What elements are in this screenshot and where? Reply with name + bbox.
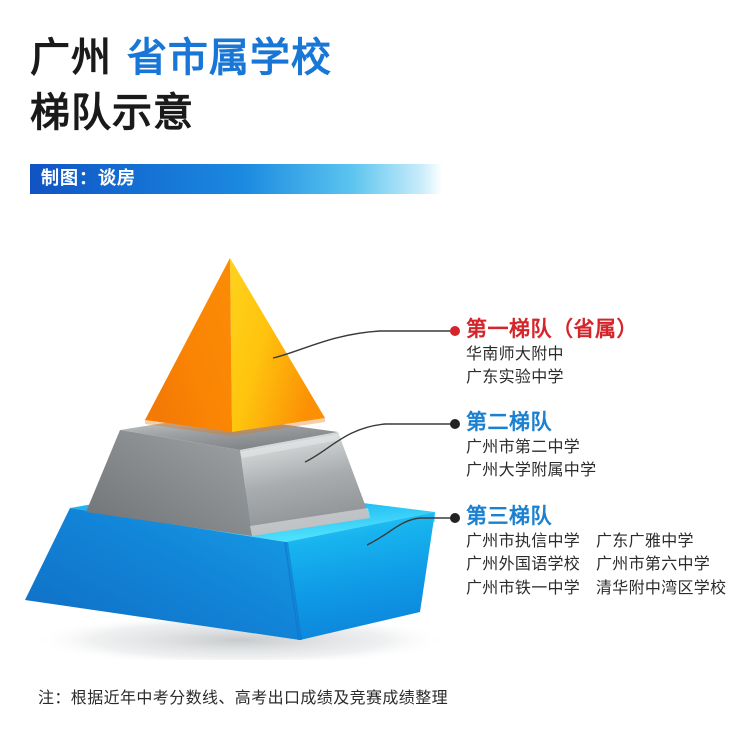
tier-3-heading: 第三梯队 [466,503,726,529]
footnote: 注：根据近年中考分数线、高考出口成绩及竞赛成绩整理 [38,684,448,708]
tier-3-school-row-1: 广州市执信中学 广东广雅中学 [466,529,726,552]
credit-label: 制图：谈房 [30,170,136,188]
tier-3-school-row-2: 广州外国语学校 广州市第六中学 [466,552,726,575]
tier-3-school-4: 广州市第六中学 [596,552,726,575]
tier-3-school-6: 清华附中湾区学校 [596,576,726,599]
pyramid-diagram [0,240,460,660]
tier-3-school-2: 广东广雅中学 [596,529,726,552]
pyramid-graphic [0,240,460,660]
tier-1-school-1: 华南师大附中 [466,342,638,365]
tier-3-school-1: 广州市执信中学 [466,529,596,552]
tier-callout-1: 第一梯队（省属） 华南师大附中 广东实验中学 [466,316,638,389]
tier-1-school-2: 广东实验中学 [466,365,638,388]
header: 广州 省市属学校 梯队示意 制图：谈房 [0,0,740,210]
tier-block-orange [145,258,325,436]
tier-callout-3: 第三梯队 广州市执信中学 广东广雅中学 广州外国语学校 广州市第六中学 广州市铁… [466,503,726,599]
tier-3-school-row-3: 广州市铁一中学 清华附中湾区学校 [466,576,726,599]
page-title-line-2: 梯队示意 [30,93,194,133]
tier-3-school-5: 广州市铁一中学 [466,576,596,599]
tier-2-school-2: 广州大学附属中学 [466,458,596,481]
tier-3-school-3: 广州外国语学校 [466,552,596,575]
page-title-city: 广州 [30,35,112,81]
page-title-highlight: 省市属学校 [127,35,332,81]
credit-bar: 制图：谈房 [30,164,442,194]
tier-2-heading: 第二梯队 [466,409,596,435]
tier-1-heading: 第一梯队（省属） [466,316,638,342]
page-title-line-1: 广州 省市属学校 [30,38,332,78]
tier-callout-2: 第二梯队 广州市第二中学 广州大学附属中学 [466,409,596,482]
tier-2-school-1: 广州市第二中学 [466,435,596,458]
